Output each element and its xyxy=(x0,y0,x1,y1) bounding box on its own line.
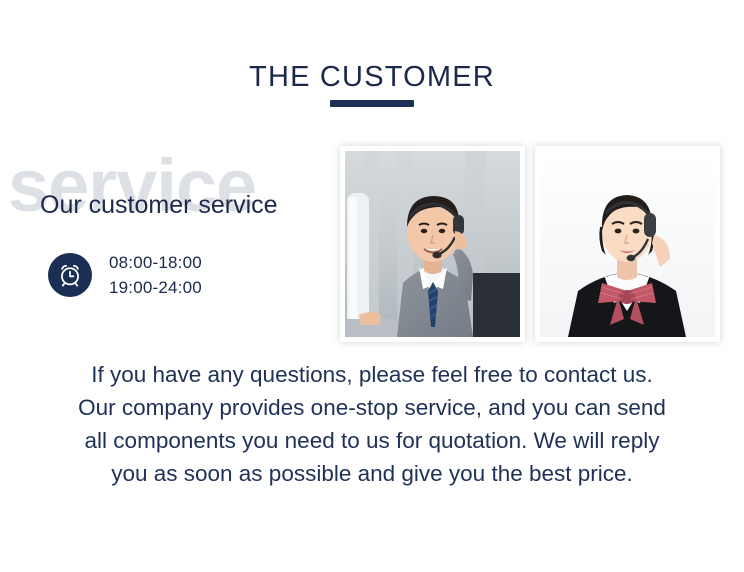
service-info-column: service Our customer service xyxy=(0,140,335,350)
contact-paragraph-line: If you have any questions, please feel f… xyxy=(22,358,722,391)
customer-service-agent-female-photo xyxy=(535,146,720,342)
service-hours-line: 08:00-18:00 xyxy=(109,250,202,275)
contact-paragraph-line: you as soon as possible and give you the… xyxy=(22,457,722,490)
page-title: THE CUSTOMER xyxy=(0,60,744,94)
photo-frame xyxy=(540,151,715,337)
service-hours-list: 08:00-18:00 19:00-24:00 xyxy=(109,250,202,300)
service-hours-line: 19:00-24:00 xyxy=(109,275,202,300)
photo-frame xyxy=(345,151,520,337)
contact-paragraph-line: all components you need to us for quotat… xyxy=(22,424,722,457)
contact-paragraph-line: Our company provides one-stop service, a… xyxy=(22,391,722,424)
customer-service-banner: THE CUSTOMER service Our customer servic… xyxy=(0,0,744,572)
header: THE CUSTOMER xyxy=(0,60,744,107)
title-underline-bar xyxy=(330,100,414,107)
customer-service-agent-male-photo xyxy=(340,146,525,342)
contact-paragraph: If you have any questions, please feel f… xyxy=(22,358,722,490)
service-hours-row: 08:00-18:00 19:00-24:00 xyxy=(48,250,202,300)
alarm-clock-icon xyxy=(48,253,92,297)
service-band: service Our customer service xyxy=(0,140,744,350)
service-heading: Our customer service xyxy=(40,190,278,220)
